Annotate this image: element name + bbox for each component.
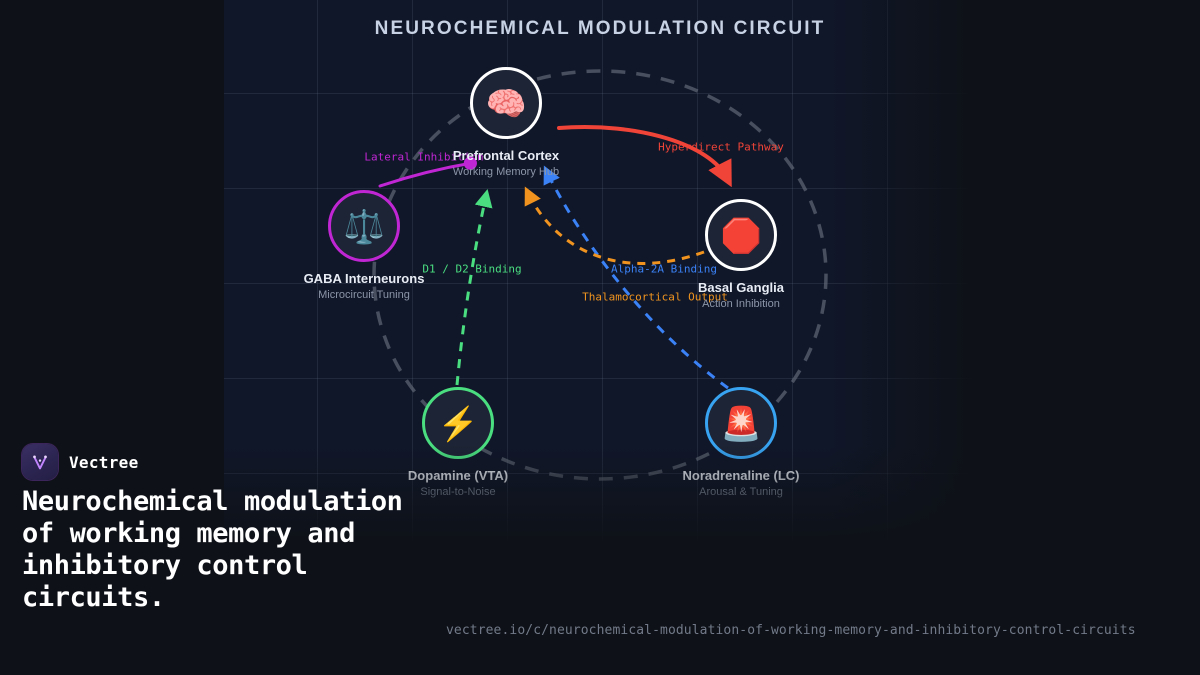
- edge-label-hyperdirect-pathway: Hyperdirect Pathway: [658, 141, 784, 154]
- node-label: Basal Ganglia: [666, 280, 816, 295]
- balance-scale-icon: ⚖️: [328, 190, 400, 262]
- node-label: GABA Interneurons: [289, 271, 439, 286]
- node-sublabel: Microcircuit Tuning: [289, 289, 439, 301]
- node-sublabel: Action Inhibition: [666, 298, 816, 310]
- stop-sign-icon: 🛑: [705, 199, 777, 271]
- node-sublabel: Working Memory Hub: [431, 166, 581, 178]
- node-prefrontal-cortex[interactable]: 🧠 Prefrontal Cortex Working Memory Hub: [431, 67, 581, 178]
- brand-row: Vectree: [22, 444, 139, 480]
- lightning-bolt-icon: ⚡: [422, 387, 494, 459]
- node-gaba-interneurons[interactable]: ⚖️ GABA Interneurons Microcircuit Tuning: [289, 190, 439, 301]
- brain-glyph: 🧠: [485, 87, 526, 120]
- page-title: NEUROCHEMICAL MODULATION CIRCUIT: [224, 18, 976, 40]
- lightning-bolt-glyph: ⚡: [437, 407, 478, 440]
- node-label: Noradrenaline (LC): [666, 468, 816, 483]
- headline: Neurochemical modulation of working memo…: [22, 486, 442, 614]
- rotating-light-glyph: 🚨: [720, 407, 761, 440]
- brand-name: Vectree: [69, 453, 139, 472]
- stop-sign-glyph: 🛑: [720, 219, 761, 252]
- footer-url: vectree.io/c/neurochemical-modulation-of…: [446, 623, 1136, 638]
- brain-icon: 🧠: [470, 67, 542, 139]
- balance-scale-glyph: ⚖️: [343, 210, 384, 243]
- node-noradrenaline-lc[interactable]: 🚨 Noradrenaline (LC) Arousal & Tuning: [666, 387, 816, 498]
- node-basal-ganglia[interactable]: 🛑 Basal Ganglia Action Inhibition: [666, 199, 816, 310]
- screenshot-root: NEUROCHEMICAL MODULATION CIRCUIT Lateral…: [0, 0, 1200, 675]
- node-label: Prefrontal Cortex: [431, 148, 581, 163]
- vectree-v-logo-icon: [22, 444, 58, 480]
- node-label: Dopamine (VTA): [383, 468, 533, 483]
- rotating-light-icon: 🚨: [705, 387, 777, 459]
- node-dopamine-vta[interactable]: ⚡ Dopamine (VTA) Signal-to-Noise: [383, 387, 533, 498]
- node-sublabel: Arousal & Tuning: [666, 486, 816, 498]
